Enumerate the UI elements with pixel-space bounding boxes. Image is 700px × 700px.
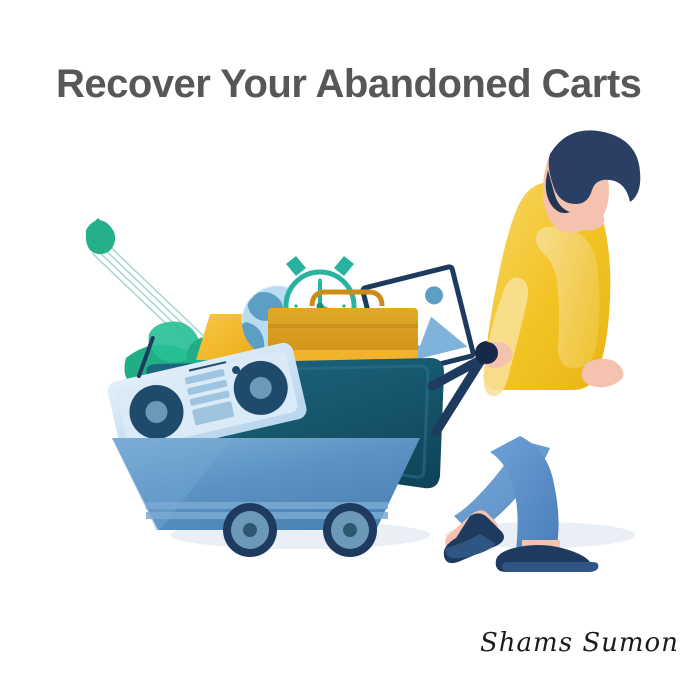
person-head: [543, 130, 640, 232]
artist-signature: Shams Sumon: [480, 628, 680, 688]
signature-text: Shams Sumon: [480, 628, 679, 658]
wheel-rear: [323, 503, 377, 557]
poster-canvas: Recover Your Abandoned Carts: [0, 0, 700, 700]
wheel-front: [223, 503, 277, 557]
page-title: Recover Your Abandoned Carts: [56, 62, 656, 107]
abandoned-cart-illustration: [0, 110, 700, 580]
